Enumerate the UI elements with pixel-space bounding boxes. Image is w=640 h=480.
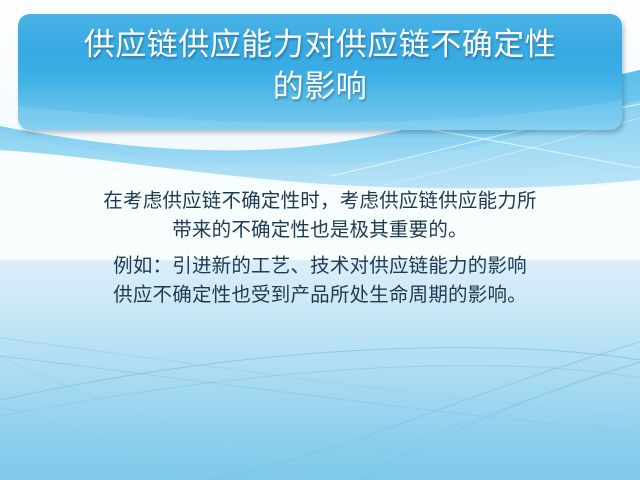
title-line-2: 的影响 (30, 66, 610, 108)
title-line-1: 供应链供应能力对供应链不确定性 (30, 24, 610, 66)
presentation-slide: 供应链供应能力对供应链不确定性 的影响 在考虑供应链不确定性时，考虑供应链供应能… (0, 0, 640, 480)
body-paragraph-1-line-1: 在考虑供应链不确定性时，考虑供应链供应能力所 (0, 186, 640, 215)
slide-body-text: 在考虑供应链不确定性时，考虑供应链供应能力所 带来的不确定性也是极其重要的。 例… (0, 186, 640, 309)
title-banner: 供应链供应能力对供应链不确定性 的影响 (18, 14, 622, 130)
body-paragraph-1-line-2: 带来的不确定性也是极其重要的。 (0, 215, 640, 244)
body-paragraph-2-line-1: 例如：引进新的工艺、技术对供应链能力的影响 (0, 251, 640, 280)
slide-title: 供应链供应能力对供应链不确定性 的影响 (18, 24, 622, 108)
body-paragraph-2-line-2: 供应不确定性也受到产品所处生命周期的影响。 (0, 280, 640, 309)
paragraph-spacer (0, 244, 640, 251)
